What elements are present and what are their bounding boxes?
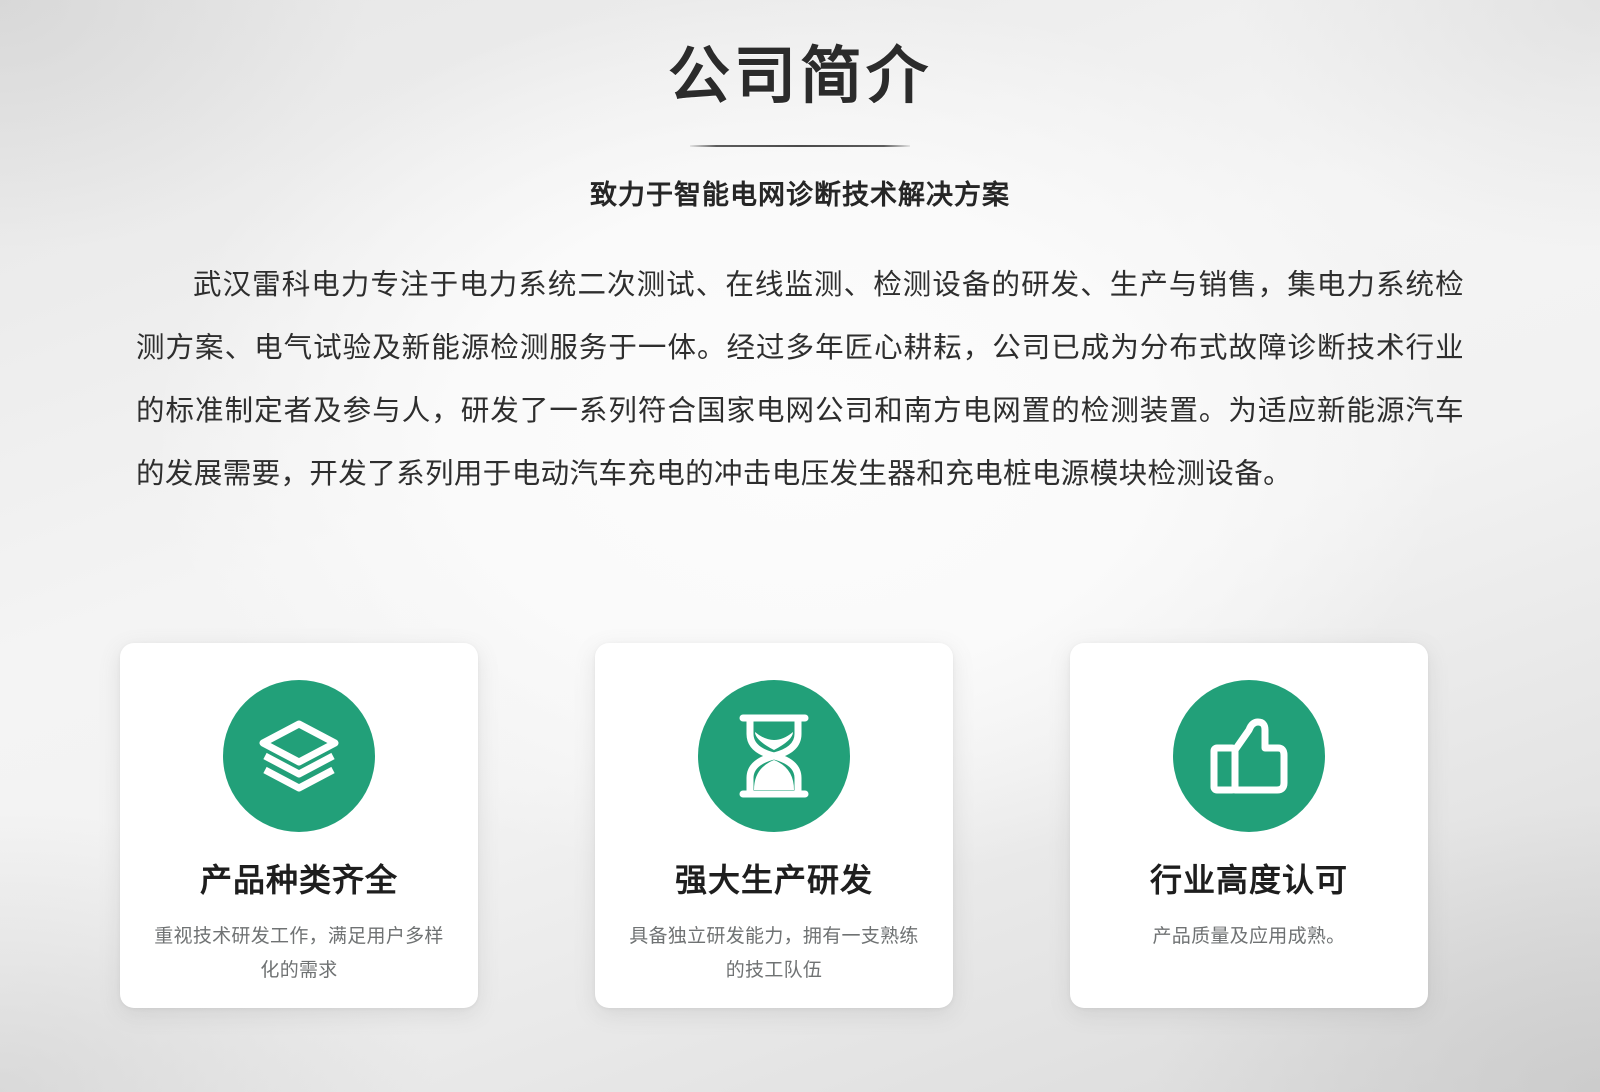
company-profile-page: 公司简介 致力于智能电网诊断技术解决方案 武汉雷科电力专注于电力系统二次测试、在… — [0, 0, 1600, 1092]
feature-card-description: 具备独立研发能力，拥有一支熟练的技工队伍 — [629, 920, 919, 988]
feature-card-description: 产品质量及应用成熟。 — [1104, 920, 1394, 954]
page-subtitle: 致力于智能电网诊断技术解决方案 — [0, 173, 1600, 212]
company-intro-paragraph: 武汉雷科电力专注于电力系统二次测试、在线监测、检测设备的研发、生产与销售，集电力… — [136, 254, 1464, 506]
feature-card-title: 产品种类齐全 — [200, 863, 398, 898]
feature-card-title: 强大生产研发 — [675, 863, 873, 898]
page-header: 公司简介 致力于智能电网诊断技术解决方案 — [0, 0, 1600, 212]
title-divider — [690, 145, 910, 147]
feature-card[interactable]: 强大生产研发 具备独立研发能力，拥有一支熟练的技工队伍 — [595, 643, 953, 1008]
page-title: 公司简介 — [0, 44, 1600, 109]
hourglass-icon — [698, 680, 850, 832]
feature-card-title: 行业高度认可 — [1150, 863, 1348, 898]
layers-icon — [223, 680, 375, 832]
feature-card[interactable]: 行业高度认可 产品质量及应用成熟。 — [1070, 643, 1428, 1008]
feature-card-description: 重视技术研发工作，满足用户多样化的需求 — [154, 920, 444, 988]
feature-card-list: 产品种类齐全 重视技术研发工作，满足用户多样化的需求 — [120, 643, 1428, 1008]
thumbs-up-icon — [1173, 680, 1325, 832]
feature-card[interactable]: 产品种类齐全 重视技术研发工作，满足用户多样化的需求 — [120, 643, 478, 1008]
